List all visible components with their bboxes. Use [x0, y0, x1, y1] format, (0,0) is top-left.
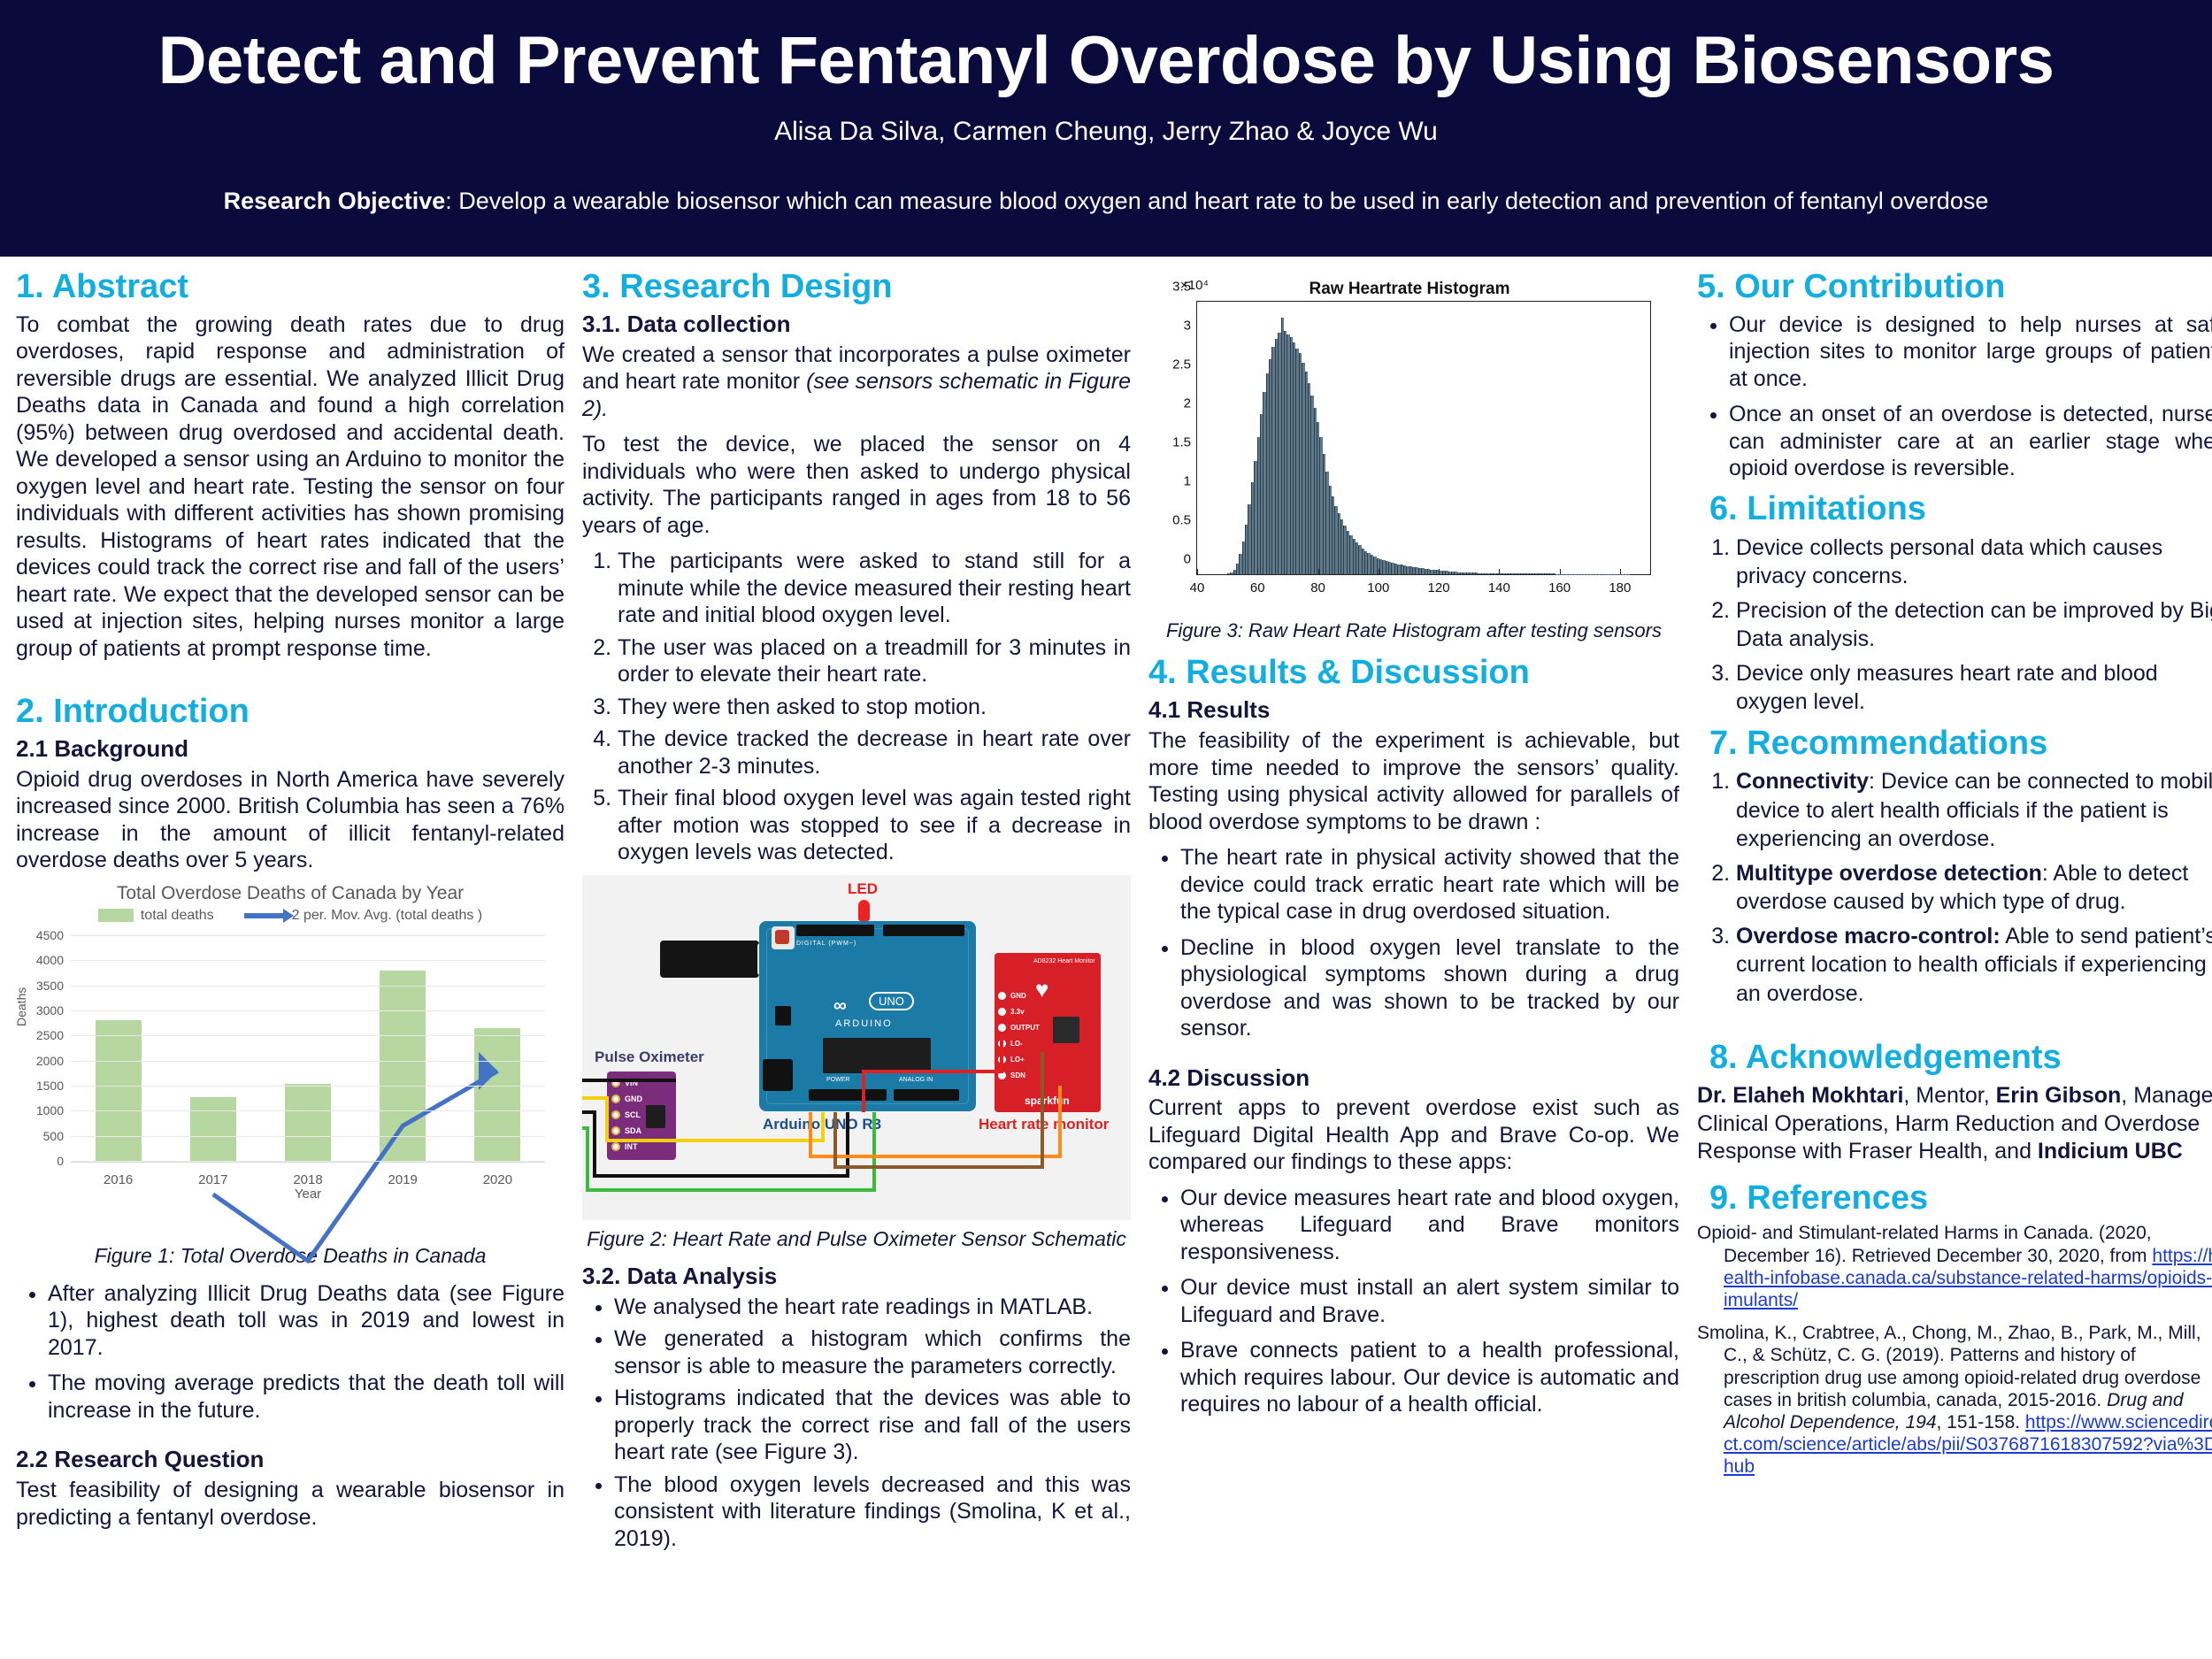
research-question-text: Test feasibility of designing a wearable…: [16, 1477, 565, 1531]
gridline: 0: [71, 1161, 545, 1162]
references-list: Opioid- and Stimulant-related Harms in C…: [1697, 1222, 2212, 1478]
list-item: Our device measures heart rate and blood…: [1180, 1185, 1679, 1266]
column-results: ×10⁴ Raw Heartrate Histogram 00.511.522.…: [1148, 269, 1679, 1427]
background-text: Opioid drug overdoses in North America h…: [16, 766, 565, 874]
data-collection-para-1: We created a sensor that incorporates a …: [582, 342, 1131, 423]
y-axis-tick: 0.5: [1172, 513, 1191, 528]
x-axis-tickmark: [1257, 569, 1258, 574]
data-collection-step-list: The participants were asked to stand sti…: [582, 548, 1131, 866]
section-heading-abstract: 1. Abstract: [16, 269, 565, 306]
discussion-intro-text: Current apps to prevent overdose exist s…: [1148, 1094, 1679, 1176]
reference-entry: Smolina, K., Crabtree, A., Chong, M., Zh…: [1697, 1322, 2212, 1478]
gridline: 2000: [71, 1061, 545, 1062]
y-axis-tick: 1500: [36, 1079, 64, 1093]
list-item: The device tracked the decrease in heart…: [618, 726, 1131, 780]
list-item: Device only measures heart rate and bloo…: [1736, 659, 2212, 717]
list-item: Connectivity: Device can be connected to…: [1736, 767, 2212, 854]
x-axis-tickmark: [1197, 569, 1198, 574]
limitations-list: Device collects personal data which caus…: [1697, 534, 2212, 717]
research-objective-text: : Develop a wearable biosensor which can…: [445, 188, 1988, 214]
ack-name-3: Indicium UBC: [2038, 1139, 2183, 1164]
poster-header: Detect and Prevent Fentanyl Overdose by …: [0, 0, 2212, 257]
y-axis-tick: 1000: [36, 1103, 64, 1118]
gridline: 3500: [71, 986, 545, 987]
chart-xlabel: Year: [71, 1187, 545, 1202]
x-axis-tickmark: [1379, 569, 1379, 574]
subsection-heading-results: 4.1 Results: [1148, 697, 1679, 724]
section-heading-results: 4. Results & Discussion: [1148, 655, 1679, 692]
legend-item-bars: total deaths: [98, 908, 214, 924]
x-axis-tick: 140: [1488, 580, 1510, 595]
list-item: Overdose macro-control: Able to send pat…: [1736, 922, 2212, 1009]
chart-moving-average-line: [71, 936, 545, 1410]
x-axis-tick: 120: [1428, 580, 1450, 595]
gridline: 1000: [71, 1110, 545, 1111]
x-axis-tick: 40: [1190, 580, 1205, 595]
column-left: 1. Abstract To combat the growing death …: [16, 269, 565, 1540]
x-axis-tick: 100: [1367, 580, 1389, 595]
list-item: Brave connects patient to a health profe…: [1180, 1337, 1679, 1418]
research-objective: Research Objective: Develop a wearable b…: [0, 188, 2212, 215]
chart-title: Total Overdose Deaths of Canada by Year: [16, 883, 565, 904]
gridline: 3000: [71, 1010, 545, 1011]
legend-label-line: 2 per. Mov. Avg. (total deaths ): [292, 908, 483, 924]
data-analysis-bullet-list: We analysed the heart rate readings in M…: [582, 1294, 1131, 1553]
list-item: Once an onset of an overdose is detected…: [1729, 401, 2212, 482]
y-axis-tick: 2000: [36, 1054, 64, 1068]
figure-2-caption: Figure 2: Heart Rate and Pulse Oximeter …: [582, 1227, 1131, 1251]
chart-plot: Deaths 20162017201820192020 050010001500…: [16, 929, 565, 1203]
y-axis-tick: 3000: [36, 1003, 64, 1018]
page-title: Detect and Prevent Fentanyl Overdose by …: [0, 25, 2212, 97]
research-objective-label: Research Objective: [224, 188, 446, 214]
list-item: The heart rate in physical activity show…: [1180, 844, 1679, 926]
discussion-bullet-list: Our device measures heart rate and blood…: [1148, 1185, 1679, 1418]
subsection-heading-research-question: 2.2 Research Question: [16, 1447, 565, 1473]
chart-ylabel: Deaths: [14, 987, 28, 1026]
results-intro-text: The feasibility of the experiment is ach…: [1148, 727, 1679, 835]
x-axis-tickmark: [1560, 569, 1561, 574]
wiring-diagram: [582, 875, 1131, 1220]
subsection-heading-background: 2.1 Background: [16, 736, 565, 763]
subsection-heading-data-collection: 3.1. Data collection: [582, 311, 1131, 338]
contribution-bullet-list: Our device is designed to help nurses at…: [1697, 311, 2212, 482]
x-axis-tick: 60: [1250, 580, 1265, 595]
list-item: Histograms indicated that the devices wa…: [614, 1385, 1131, 1466]
list-item: Our device must install an alert system …: [1180, 1274, 1679, 1328]
legend-label-bars: total deaths: [141, 908, 214, 924]
legend-swatch-icon: [98, 909, 134, 922]
ack-name-2: Erin Gibson: [1996, 1083, 2122, 1108]
y-axis-tick: 3: [1184, 319, 1191, 334]
list-item: Device collects personal data which caus…: [1736, 534, 2212, 591]
section-heading-introduction: 2. Introduction: [16, 694, 565, 731]
column-research-design: 3. Research Design 3.1. Data collection …: [582, 269, 1131, 1561]
subsection-heading-data-analysis: 3.2. Data Analysis: [582, 1263, 1131, 1290]
x-axis-tickmark: [1439, 569, 1440, 574]
histogram-title: Raw Heartrate Histogram: [1148, 280, 1671, 299]
y-axis-tick: 2: [1184, 396, 1191, 411]
list-item: The participants were asked to stand sti…: [618, 548, 1131, 629]
acknowledgements-text: Dr. Elaheh Mokhtari, Mentor, Erin Gibson…: [1697, 1082, 2212, 1166]
author-list: Alisa Da Silva, Carmen Cheung, Jerry Zha…: [0, 117, 2212, 147]
recommendations-list: Connectivity: Device can be connected to…: [1697, 767, 2212, 1008]
y-axis-tick: 1.5: [1172, 435, 1191, 450]
figure-1-chart: Total Overdose Deaths of Canada by Year …: [16, 883, 565, 1237]
section-heading-limitations: 6. Limitations: [1697, 491, 2212, 528]
x-axis-tick: 80: [1310, 580, 1325, 595]
ack-name-1: Dr. Elaheh Mokhtari: [1697, 1083, 1903, 1108]
gridline: 2500: [71, 1035, 545, 1036]
reference-link[interactable]: https://health-infobase.canada.ca/substa…: [1724, 1246, 2212, 1310]
list-item: The blood oxygen levels decreased and th…: [614, 1471, 1131, 1553]
legend-item-line: 2 per. Mov. Avg. (total deaths ): [244, 908, 483, 924]
legend-line-icon: [244, 913, 285, 918]
list-item: Multitype overdose detection: Able to de…: [1736, 859, 2212, 917]
list-item: Their final blood oxygen level was again…: [618, 785, 1131, 866]
y-axis-tick: 0: [1184, 552, 1191, 567]
gridline: 4000: [71, 960, 545, 961]
y-axis-tick: 0: [57, 1154, 64, 1168]
y-axis-tick: 4000: [36, 953, 64, 967]
section-heading-acknowledgements: 8. Acknowledgements: [1697, 1040, 2212, 1077]
chart-plot-area: 20162017201820192020 0500100015002000250…: [71, 936, 545, 1163]
figure-2-schematic: LED DIGITAL (PWM~) ∞ UNO ARDUINO POWER A…: [582, 875, 1131, 1220]
list-item: They were then asked to stop motion.: [618, 694, 1131, 721]
data-collection-para-2: To test the device, we placed the sensor…: [582, 431, 1131, 539]
y-axis-tick: 3500: [36, 979, 64, 993]
y-axis-tick: 4500: [36, 928, 64, 942]
figure-3-histogram: ×10⁴ Raw Heartrate Histogram 00.511.522.…: [1148, 276, 1671, 612]
section-heading-recommendations: 7. Recommendations: [1697, 726, 2212, 763]
chart-legend: total deaths 2 per. Mov. Avg. (total dea…: [16, 908, 565, 924]
list-item: The user was placed on a treadmill for 3…: [618, 634, 1131, 688]
list-item: We analysed the heart rate readings in M…: [614, 1294, 1131, 1321]
y-axis-tick: 3.5: [1172, 280, 1191, 295]
poster-body: 1. Abstract To combat the growing death …: [0, 257, 2212, 1659]
y-axis-tick: 500: [43, 1129, 64, 1143]
abstract-text: To combat the growing death rates due to…: [16, 311, 565, 663]
x-axis-tick: 160: [1548, 580, 1571, 595]
results-bullet-list: The heart rate in physical activity show…: [1148, 844, 1679, 1042]
section-heading-references: 9. References: [1697, 1180, 2212, 1217]
y-axis-tick: 2.5: [1172, 357, 1191, 373]
x-axis-tick: 180: [1609, 580, 1631, 595]
gridline: 1500: [71, 1086, 545, 1087]
gridline: 500: [71, 1136, 545, 1137]
subsection-heading-discussion: 4.2 Discussion: [1148, 1065, 1679, 1092]
y-axis-tick: 2500: [36, 1028, 64, 1042]
list-item: Our device is designed to help nurses at…: [1729, 311, 2212, 393]
column-right: 5. Our Contribution Our device is design…: [1697, 269, 2212, 1489]
x-axis-tickmark: [1620, 569, 1621, 574]
list-item: Precision of the detection can be improv…: [1736, 596, 2212, 654]
section-heading-research-design: 3. Research Design: [582, 269, 1131, 306]
reference-entry: Opioid- and Stimulant-related Harms in C…: [1697, 1222, 2212, 1311]
y-axis-tick: 1: [1184, 474, 1191, 489]
ack-role-1: , Mentor,: [1903, 1083, 1995, 1108]
gridline: 4500: [71, 935, 545, 936]
histogram-plot-area: 00.511.522.533.5406080100120140160180: [1196, 301, 1651, 575]
x-axis-tickmark: [1499, 569, 1500, 574]
section-heading-contribution: 5. Our Contribution: [1697, 269, 2212, 306]
figure-3-caption: Figure 3: Raw Heart Rate Histogram after…: [1148, 619, 1679, 642]
list-item: We generated a histogram which confirms …: [614, 1325, 1131, 1379]
list-item: Decline in blood oxygen level translate …: [1180, 934, 1679, 1042]
x-axis-tickmark: [1318, 569, 1319, 574]
